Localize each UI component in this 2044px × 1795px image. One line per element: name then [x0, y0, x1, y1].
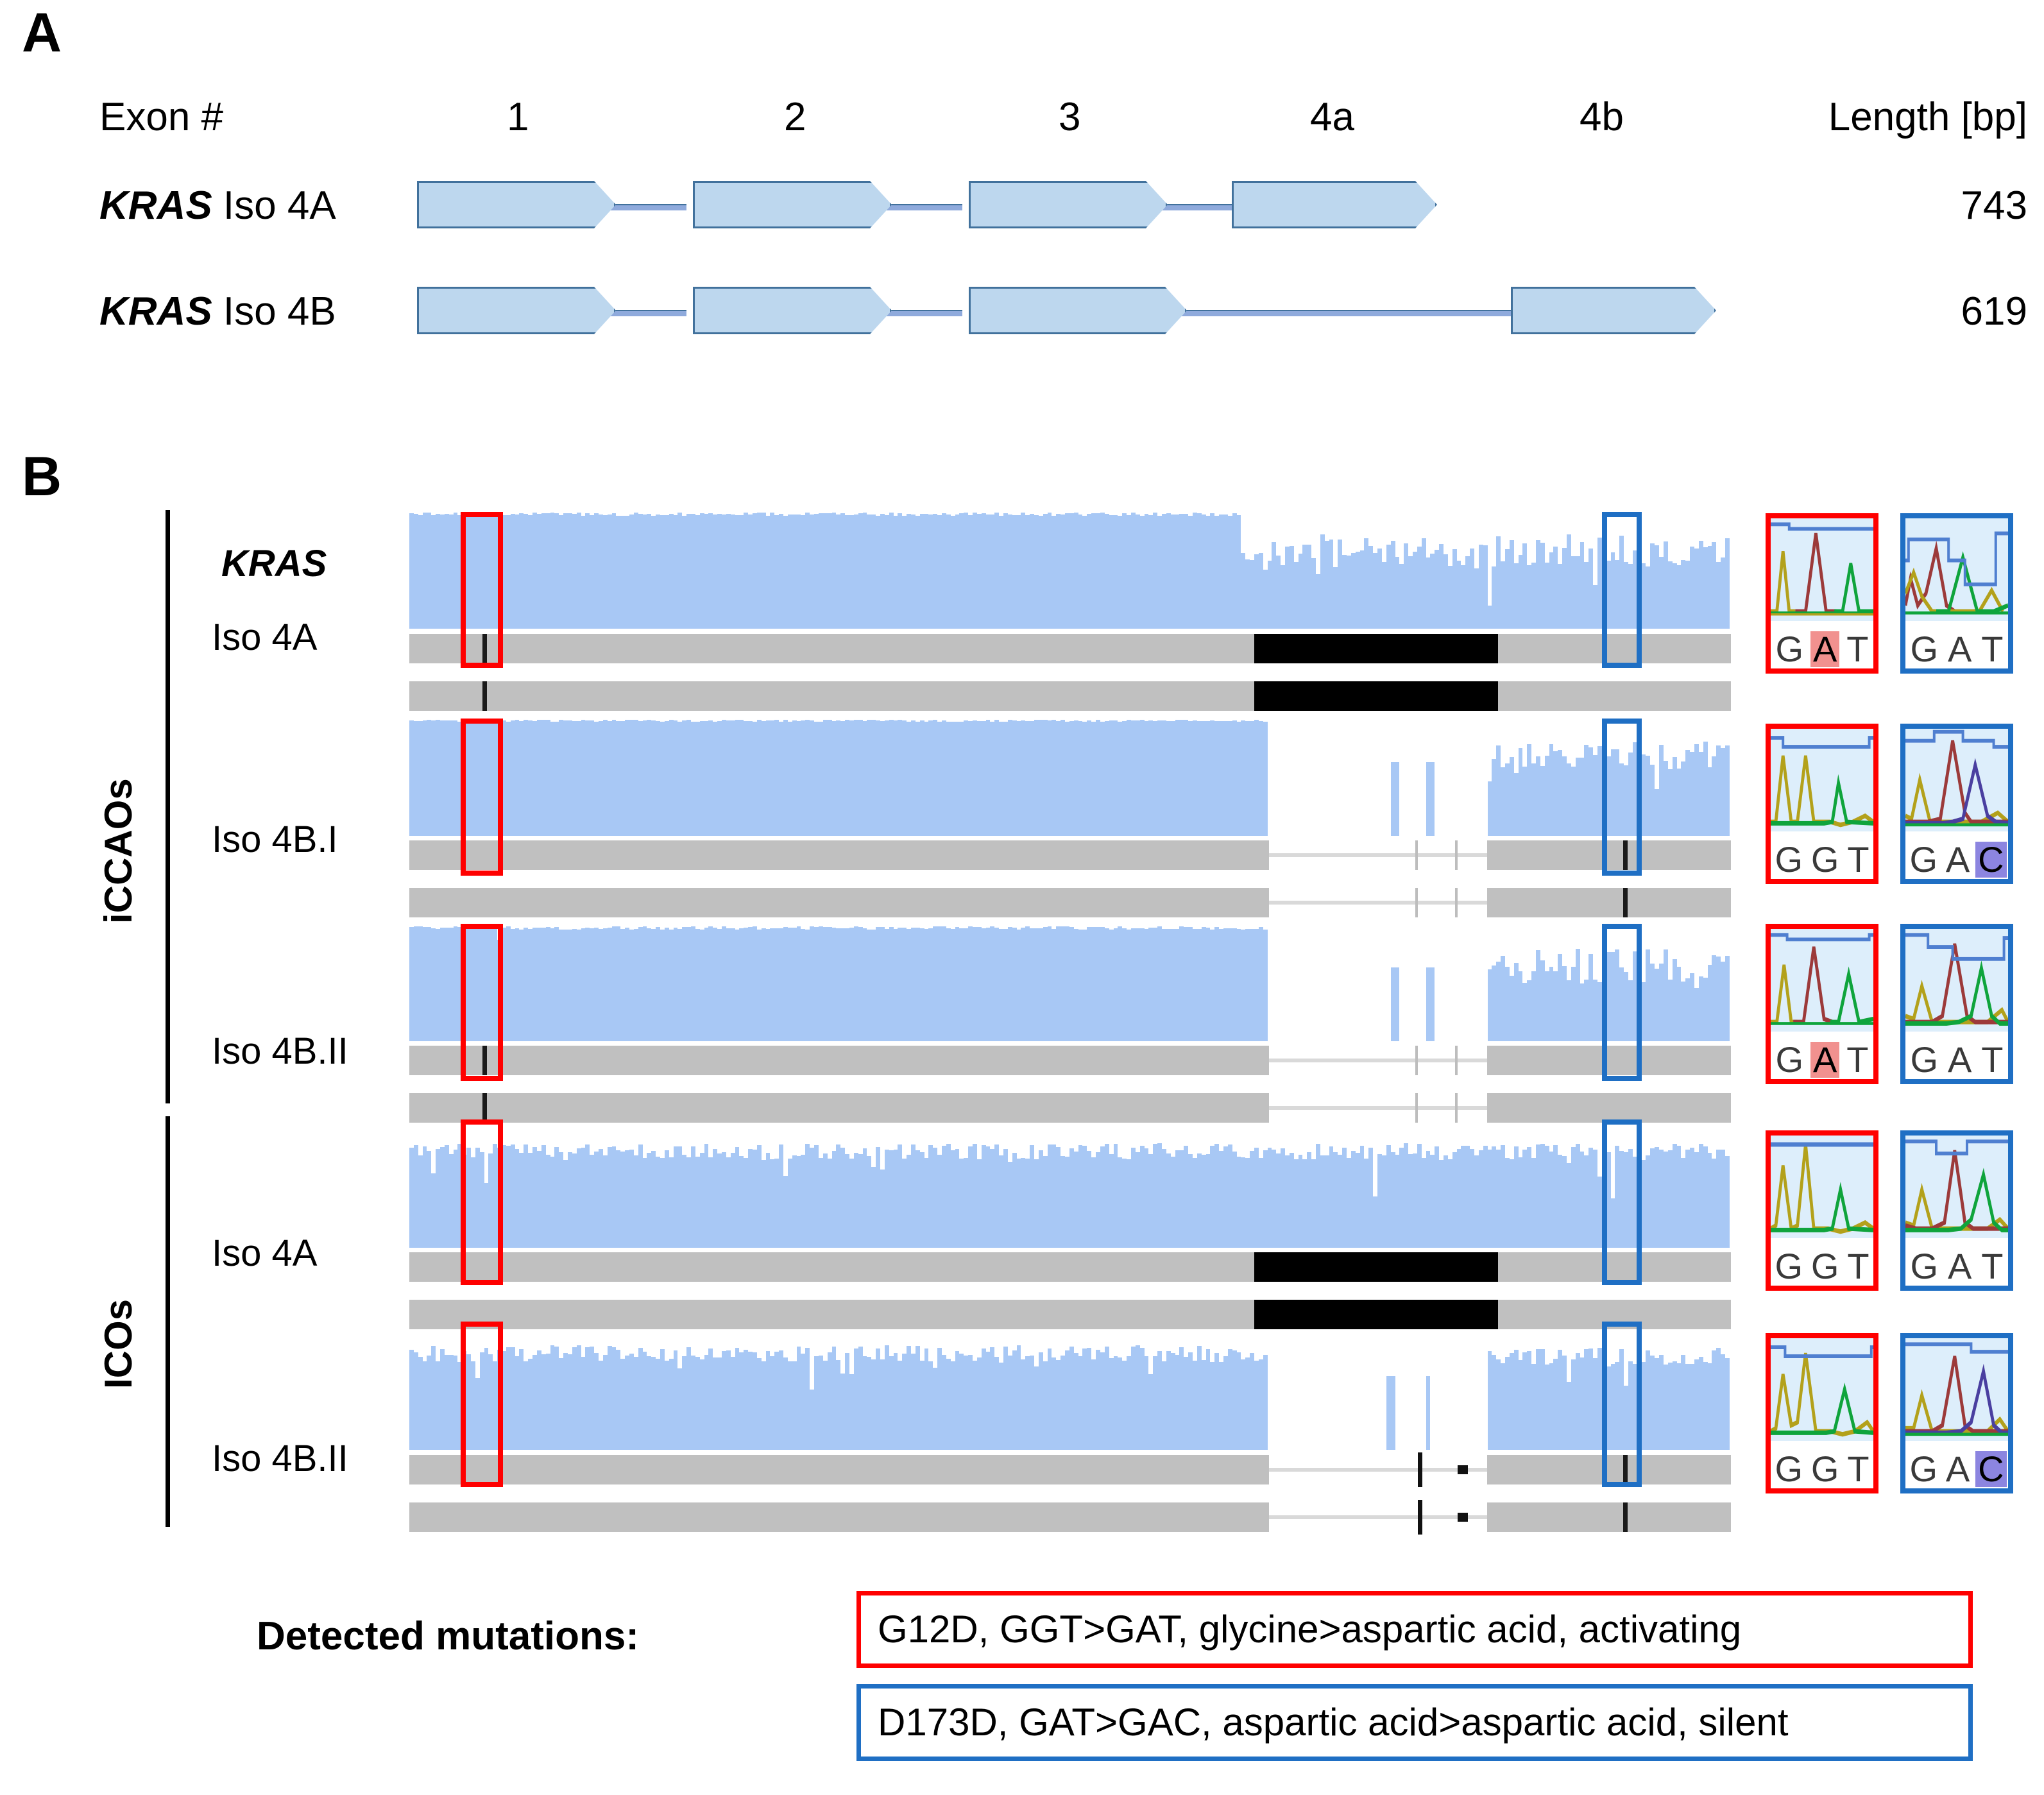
base-row4-red-3: T — [1844, 1248, 1871, 1284]
base-row5-red-1: G — [1772, 1451, 1805, 1487]
intron-tick-row2-top-a — [1415, 840, 1418, 870]
exon-label-3: 3 — [1059, 98, 1080, 137]
base-row5-red-2: G — [1809, 1451, 1842, 1487]
intron-tick-row2-bottom-b — [1455, 888, 1458, 917]
intron-tick-row3-top-a — [1415, 1046, 1418, 1075]
intron-tick-row3-bottom-a — [1415, 1093, 1418, 1123]
coverage-track-row3 — [409, 923, 1731, 1041]
snp-mark-row3-bottom-red — [482, 1093, 487, 1123]
intron-4b-3 — [1155, 310, 1514, 316]
group-bracket-icos — [166, 1116, 170, 1527]
read-bar-row1-bottom — [409, 681, 1731, 711]
base-row1-red-3: T — [1844, 631, 1871, 667]
intron-connector-row3-bottom — [1269, 1106, 1487, 1110]
highlight-box-row4-red[interactable] — [461, 1119, 503, 1285]
intron-tick-row5-top-a — [1418, 1452, 1422, 1487]
isoform-4b-row-label: KRAS Iso 4B — [99, 292, 336, 332]
row-label-icos-iso4a: Iso 4A — [212, 1235, 317, 1272]
intron-tick-row5-bottom-a — [1418, 1500, 1422, 1535]
read-bar-row5-top-left — [409, 1455, 1269, 1484]
chromatogram-row2-blue[interactable]: GAC — [1900, 724, 2013, 884]
exon4a-block-row4-top — [1254, 1252, 1498, 1282]
base-row4-blue-2: A — [1945, 1248, 1974, 1284]
gene-label-kras: KRAS — [221, 545, 327, 583]
base-row5-blue-1: G — [1907, 1451, 1940, 1487]
base-calls-row4-blue: GAT — [1905, 1248, 2008, 1284]
base-row2-red-1: G — [1772, 842, 1805, 878]
highlight-box-row4-blue[interactable] — [1602, 1119, 1642, 1285]
base-row2-blue-2: A — [1943, 842, 1972, 878]
read-bar-row2-top-left — [409, 840, 1269, 870]
length-header-label: Length [bp] — [1758, 98, 2027, 137]
base-row5-blue-3: C — [1975, 1451, 2006, 1487]
chromatogram-row3-blue[interactable]: GAT — [1900, 924, 2013, 1084]
base-row4-red-1: G — [1772, 1248, 1805, 1284]
exon-box-4a-3 — [969, 181, 1168, 228]
exon-label-2: 2 — [784, 98, 806, 137]
chromatogram-row1-blue[interactable]: GAT — [1900, 513, 2013, 674]
base-row5-red-3: T — [1844, 1451, 1871, 1487]
base-row2-blue-1: G — [1907, 842, 1940, 878]
read-bar-row5-bottom-right — [1487, 1502, 1731, 1532]
base-calls-row4-red: GGT — [1771, 1248, 1873, 1284]
highlight-box-row1-blue[interactable] — [1602, 512, 1642, 668]
coverage-track-row2 — [409, 717, 1731, 836]
row-label-icos-iso4bii: Iso 4B.II — [212, 1440, 348, 1477]
legend-box-silent: D173D, GAT>GAC, aspartic acid>aspartic a… — [856, 1684, 1973, 1761]
legend-box-activating: G12D, GGT>GAT, glycine>aspartic acid, ac… — [856, 1591, 1973, 1668]
read-bar-row3-bottom-right — [1487, 1093, 1731, 1123]
exon4a-block-row4-bottom — [1254, 1300, 1498, 1329]
intron-connector-row2-bottom — [1269, 901, 1487, 905]
read-bar-row4-bottom — [409, 1300, 1731, 1329]
highlight-box-row5-blue[interactable] — [1602, 1322, 1642, 1487]
base-row3-blue-2: A — [1945, 1042, 1974, 1078]
exon-label-4a: 4a — [1310, 98, 1354, 137]
intron-tick-row2-top-b — [1455, 840, 1458, 870]
base-calls-row2-blue: GAC — [1905, 842, 2008, 878]
base-row4-blue-1: G — [1907, 1248, 1941, 1284]
intron-connector-row2-top — [1269, 853, 1487, 857]
isoform-4a-length: 743 — [1758, 186, 2027, 226]
intron-tick-row5-bottom-b — [1458, 1513, 1468, 1522]
chromatogram-row5-blue[interactable]: GAC — [1900, 1333, 2013, 1493]
base-row4-red-2: G — [1809, 1248, 1842, 1284]
exon-box-4a-1 — [417, 181, 616, 228]
exon-label-4b: 4b — [1580, 98, 1624, 137]
base-calls-row1-blue: GAT — [1905, 631, 2008, 667]
group-label-iccaos: iCCAOs — [96, 778, 141, 924]
read-bar-row3-bottom-left — [409, 1093, 1269, 1123]
base-calls-row5-red: GGT — [1771, 1451, 1873, 1487]
exon4a-block-row1-top — [1254, 634, 1498, 663]
iso-suffix-4b: Iso 4B — [212, 289, 336, 334]
base-row1-blue-3: T — [1979, 631, 2006, 667]
intron-connector-row5-top — [1269, 1468, 1487, 1472]
base-row1-blue-1: G — [1907, 631, 1941, 667]
group-label-icos: ICOs — [96, 1299, 141, 1389]
base-row2-blue-3: C — [1975, 842, 2006, 878]
read-bar-row2-bottom-left — [409, 888, 1269, 917]
base-row2-red-2: G — [1809, 842, 1842, 878]
chromatogram-row3-red[interactable]: GAT — [1766, 924, 1878, 1084]
highlight-box-row2-red[interactable] — [461, 719, 503, 876]
base-row4-blue-3: T — [1979, 1248, 2006, 1284]
exon-box-4b-1 — [417, 287, 616, 334]
highlight-box-row3-red[interactable] — [461, 924, 503, 1081]
chromatogram-row5-red[interactable]: GGT — [1766, 1333, 1878, 1493]
exon-box-4a-2 — [693, 181, 892, 228]
read-bar-row5-bottom-left — [409, 1502, 1269, 1532]
snp-mark-row5-bottom-blue — [1623, 1502, 1628, 1532]
intron-tick-row3-bottom-b — [1455, 1093, 1458, 1123]
row-label-iccaos-iso4bii: Iso 4B.II — [212, 1033, 348, 1070]
row-label-iccaos-iso4a: Iso 4A — [212, 619, 317, 656]
base-calls-row5-blue: GAC — [1905, 1451, 2008, 1487]
highlight-box-row3-blue[interactable] — [1602, 924, 1642, 1081]
exon4a-block-row1-bottom — [1254, 681, 1498, 711]
base-row1-red-1: G — [1773, 631, 1806, 667]
chromatogram-row1-red[interactable]: GAT — [1766, 513, 1878, 674]
base-row3-red-3: T — [1844, 1042, 1871, 1078]
base-calls-row3-red: GAT — [1771, 1042, 1873, 1078]
intron-connector-row5-bottom — [1269, 1515, 1487, 1519]
legend-text-activating: G12D, GGT>GAT, glycine>aspartic acid, ac… — [878, 1610, 1741, 1649]
isoform-4b-length: 619 — [1758, 292, 2027, 332]
row-label-iccaos-iso4bi: Iso 4B.I — [212, 821, 338, 858]
intron-tick-row3-top-b — [1455, 1046, 1458, 1075]
snp-mark-row1-bottom-red — [482, 681, 487, 711]
panel-a-letter: A — [22, 5, 62, 60]
exon-label-1: 1 — [507, 98, 529, 137]
exon-box-4a-4a — [1232, 181, 1437, 228]
exon-box-4b-2 — [693, 287, 892, 334]
group-bracket-iccaos — [166, 510, 170, 1103]
chromatogram-row4-blue[interactable]: GAT — [1900, 1130, 2013, 1291]
base-calls-row1-red: GAT — [1771, 631, 1873, 667]
intron-tick-row5-top-b — [1458, 1465, 1468, 1474]
chromatogram-row4-red[interactable]: GGT — [1766, 1130, 1878, 1291]
base-row3-blue-1: G — [1907, 1042, 1941, 1078]
detected-mutations-label: Detected mutations: — [257, 1617, 639, 1656]
read-bar-row4-top — [409, 1252, 1731, 1282]
read-bar-row3-top-left — [409, 1046, 1269, 1075]
base-row2-red-3: T — [1844, 842, 1871, 878]
gene-name-4b: KRAS — [99, 289, 212, 334]
read-bar-row2-bottom-right — [1487, 888, 1731, 917]
base-row1-blue-2: A — [1945, 631, 1974, 667]
base-calls-row3-blue: GAT — [1905, 1042, 2008, 1078]
highlight-box-row5-red[interactable] — [461, 1322, 503, 1487]
base-row3-blue-3: T — [1979, 1042, 2006, 1078]
base-row5-blue-2: A — [1943, 1451, 1972, 1487]
base-calls-row2-red: GGT — [1771, 842, 1873, 878]
coverage-track-row1 — [409, 510, 1731, 629]
read-bar-row1-top — [409, 634, 1731, 663]
exon-box-4b-3 — [969, 287, 1187, 334]
base-row3-red-2: A — [1810, 1042, 1839, 1078]
coverage-track-row5 — [409, 1331, 1731, 1450]
intron-connector-row3-top — [1269, 1059, 1487, 1062]
highlight-box-row2-blue[interactable] — [1602, 719, 1642, 876]
highlight-box-row1-red[interactable] — [461, 512, 503, 668]
snp-mark-row2-bottom-blue — [1623, 888, 1628, 917]
intron-tick-row2-bottom-a — [1415, 888, 1418, 917]
gene-name-4a: KRAS — [99, 183, 212, 228]
legend-text-silent: D173D, GAT>GAC, aspartic acid>aspartic a… — [878, 1703, 1789, 1742]
coverage-track-row4 — [409, 1129, 1731, 1248]
base-row3-red-1: G — [1773, 1042, 1806, 1078]
chromatogram-row2-red[interactable]: GGT — [1766, 724, 1878, 884]
isoform-4a-row-label: KRAS Iso 4A — [99, 186, 336, 226]
exon-header-label: Exon # — [99, 98, 223, 137]
exon-box-4b-4b — [1511, 287, 1716, 334]
base-row1-red-2: A — [1810, 631, 1839, 667]
panel-b-letter: B — [22, 449, 62, 504]
iso-suffix-4a: Iso 4A — [212, 183, 336, 228]
